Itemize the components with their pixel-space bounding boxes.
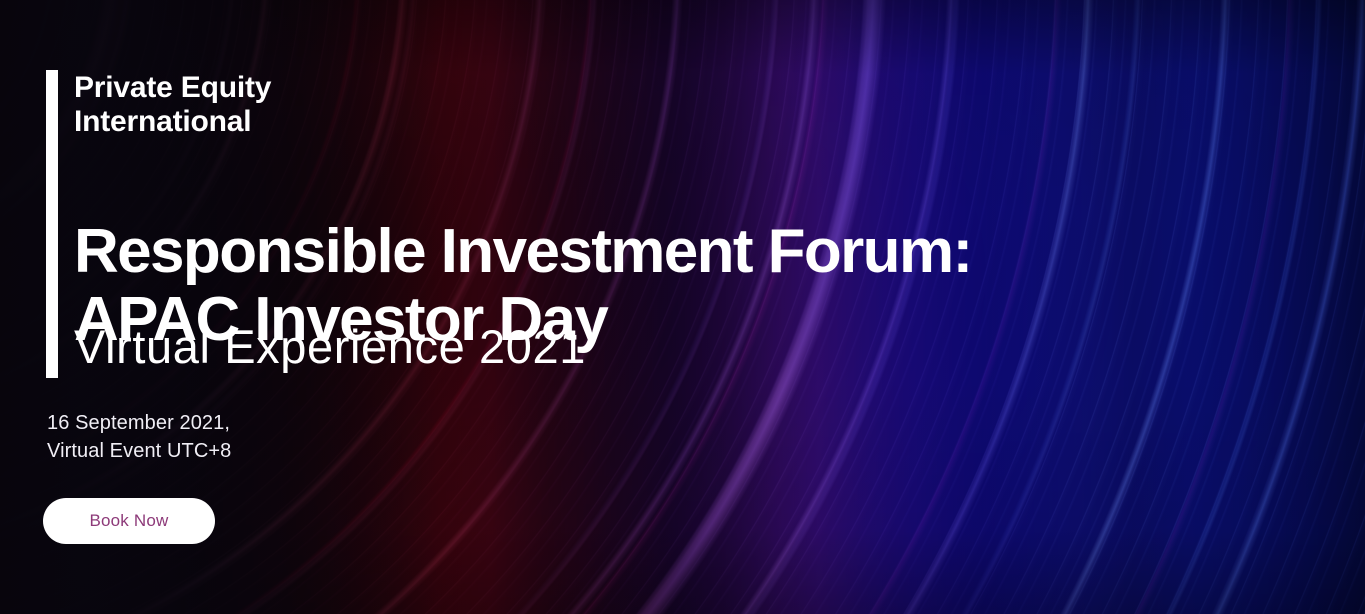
brand-logo-text: Private Equity International [74, 71, 271, 138]
banner-content: Private Equity International Responsible… [0, 0, 1365, 614]
accent-bar [46, 70, 58, 378]
book-now-button[interactable]: Book Now [43, 498, 215, 544]
event-details: 16 September 2021, Virtual Event UTC+8 [47, 409, 231, 466]
page-subtitle: Virtual Experience 2021 [74, 322, 586, 371]
event-hero-banner: Private Equity International Responsible… [0, 0, 1365, 614]
